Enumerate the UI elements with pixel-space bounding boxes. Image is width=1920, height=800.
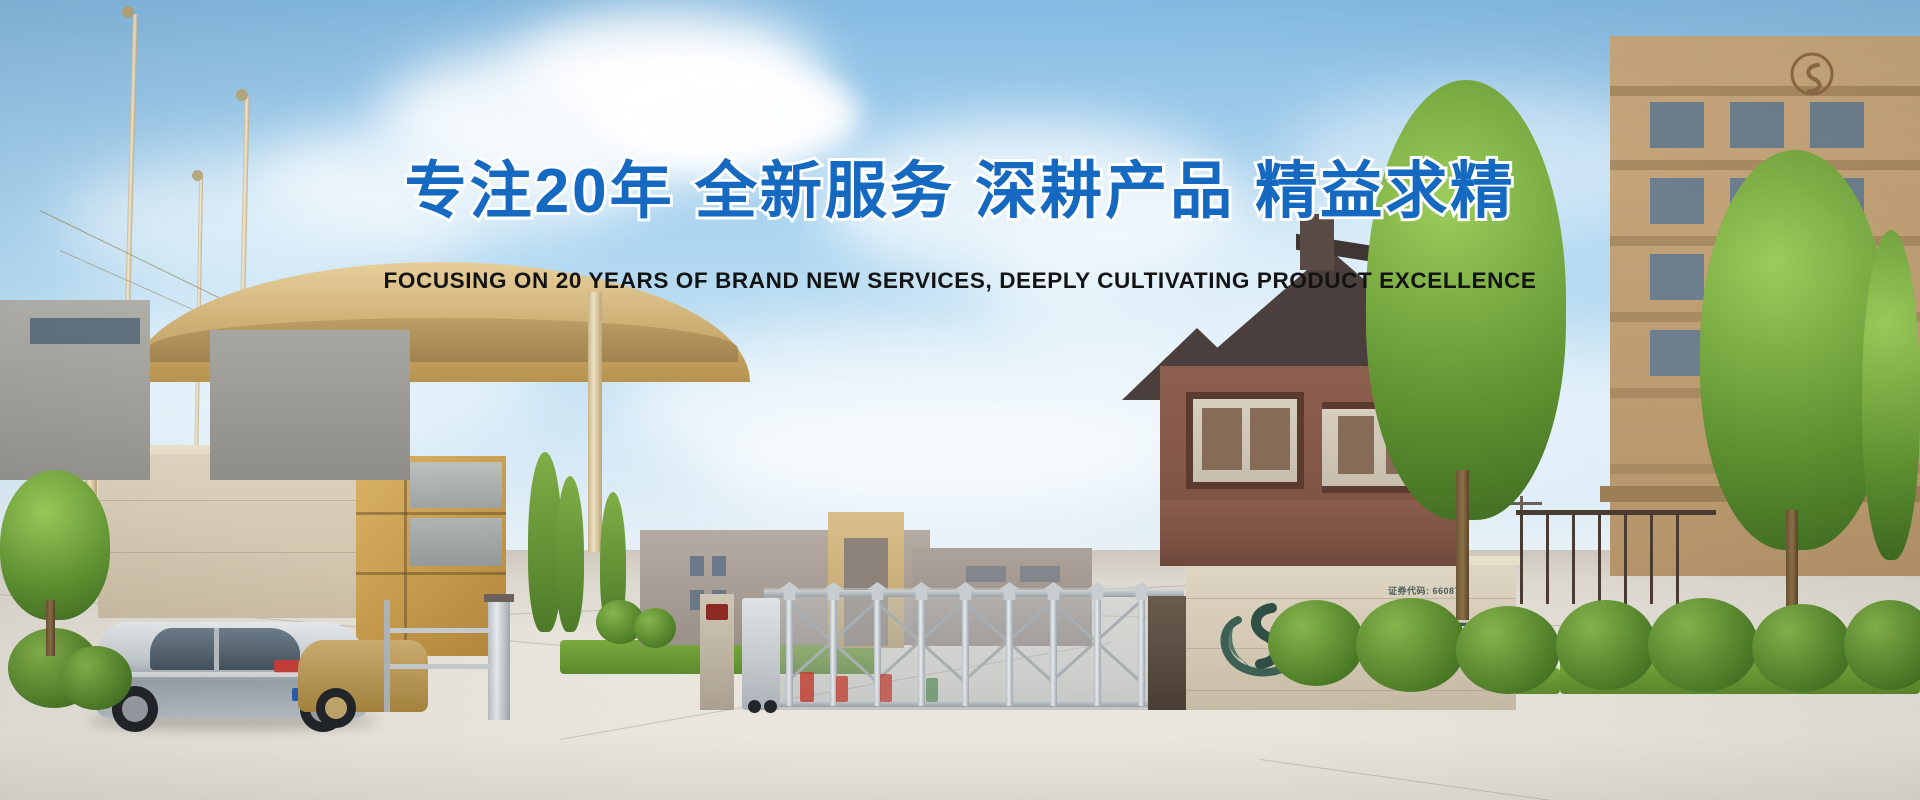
shrub	[1268, 600, 1364, 686]
subtitle-text: FOCUSING ON 20 YEARS OF BRAND NEW SERVIC…	[0, 268, 1920, 294]
tree-trunk	[46, 600, 55, 656]
gate-warning-marking	[836, 676, 848, 702]
gate-bottom-rail	[764, 700, 1184, 707]
tree	[0, 470, 110, 620]
gate-pillar-cap	[484, 594, 514, 602]
gate-roller	[764, 700, 777, 713]
gate-warning-marking	[800, 672, 814, 702]
shrub	[1556, 600, 1656, 690]
villa-window	[1250, 408, 1290, 470]
gate-vertical-post	[786, 596, 793, 706]
car-window-pillar	[214, 628, 219, 670]
gold-car-wheel	[316, 688, 356, 728]
gate-roller	[748, 700, 761, 713]
gate-warning-marking	[880, 674, 892, 702]
tree-trunk	[1456, 470, 1469, 620]
fence-bar	[1676, 512, 1679, 604]
fence-bar	[1520, 512, 1523, 604]
gold-panel-divider	[356, 512, 506, 515]
villa-timber-beam	[1186, 482, 1304, 489]
company-hero-banner: 神龙拜耳 证券代码: 660873	[0, 0, 1920, 800]
villa-timber-beam	[1186, 392, 1193, 488]
fence-bar	[1572, 512, 1575, 604]
villa-window	[1338, 416, 1374, 474]
shrub	[60, 646, 132, 710]
retractable-factory-gate[interactable]	[764, 588, 1184, 710]
panel-glass	[410, 518, 502, 566]
background-shed	[210, 330, 410, 480]
turnstile-rail	[386, 664, 492, 669]
headline-text-fill: 专注20年 全新服务 深耕产品 精益求精	[0, 140, 1920, 230]
canopy-support-column	[588, 292, 602, 552]
villa-timber-beam	[1297, 392, 1304, 488]
wall-joint	[98, 500, 388, 501]
shrub	[634, 608, 676, 648]
gate-vertical-post	[962, 596, 969, 706]
fence-bar	[1546, 512, 1549, 604]
gate-top-rail	[764, 590, 1184, 597]
gate-vertical-post	[1006, 596, 1013, 706]
flagpole-finial	[236, 89, 248, 101]
fence-bar	[1650, 512, 1653, 604]
gate-vertical-post	[1050, 596, 1057, 706]
gate-pillar	[488, 600, 510, 720]
wall-service-door	[1148, 596, 1186, 710]
cloud	[700, 400, 1200, 520]
villa-timber-beam	[1186, 392, 1304, 399]
turnstile-rail	[386, 628, 492, 633]
led-display	[706, 604, 728, 620]
factory-window	[690, 556, 704, 576]
office-window	[1650, 330, 1704, 376]
gate-vertical-post	[1094, 596, 1101, 706]
sign-stock-code: 证券代码: 660873	[1388, 584, 1466, 597]
factory-window	[1020, 566, 1060, 582]
factory-window	[966, 566, 1006, 582]
office-facade-band	[1610, 86, 1920, 96]
shrub	[1648, 598, 1758, 692]
gate-vertical-post	[918, 596, 925, 706]
shrub	[1356, 598, 1466, 692]
flagpole-finial	[122, 6, 134, 18]
headline-group: 专注20年 全新服务 深耕产品 精益求精 专注20年 全新服务 深耕产品 精益求…	[0, 140, 1920, 230]
villa-window	[1202, 408, 1242, 470]
fence-bar	[1624, 512, 1627, 604]
wall-joint	[98, 552, 388, 553]
poplar-tree	[556, 476, 584, 632]
gate-warning-marking	[926, 678, 938, 702]
gold-panel-divider	[404, 456, 407, 656]
fence-bar	[1598, 512, 1601, 604]
gate-vertical-post	[1138, 596, 1145, 706]
villa-ground-floor	[1160, 500, 1460, 566]
gate-drive-unit	[742, 598, 780, 710]
gold-panel-divider	[356, 572, 506, 575]
shrub	[1752, 604, 1852, 692]
office-logo-emblem	[1790, 52, 1834, 96]
background-shed-window	[30, 318, 140, 344]
panel-glass	[410, 462, 502, 508]
fence-top-rail	[1516, 510, 1716, 515]
shrub	[1456, 606, 1560, 694]
turnstile-frame	[384, 600, 390, 712]
factory-window	[712, 556, 726, 576]
